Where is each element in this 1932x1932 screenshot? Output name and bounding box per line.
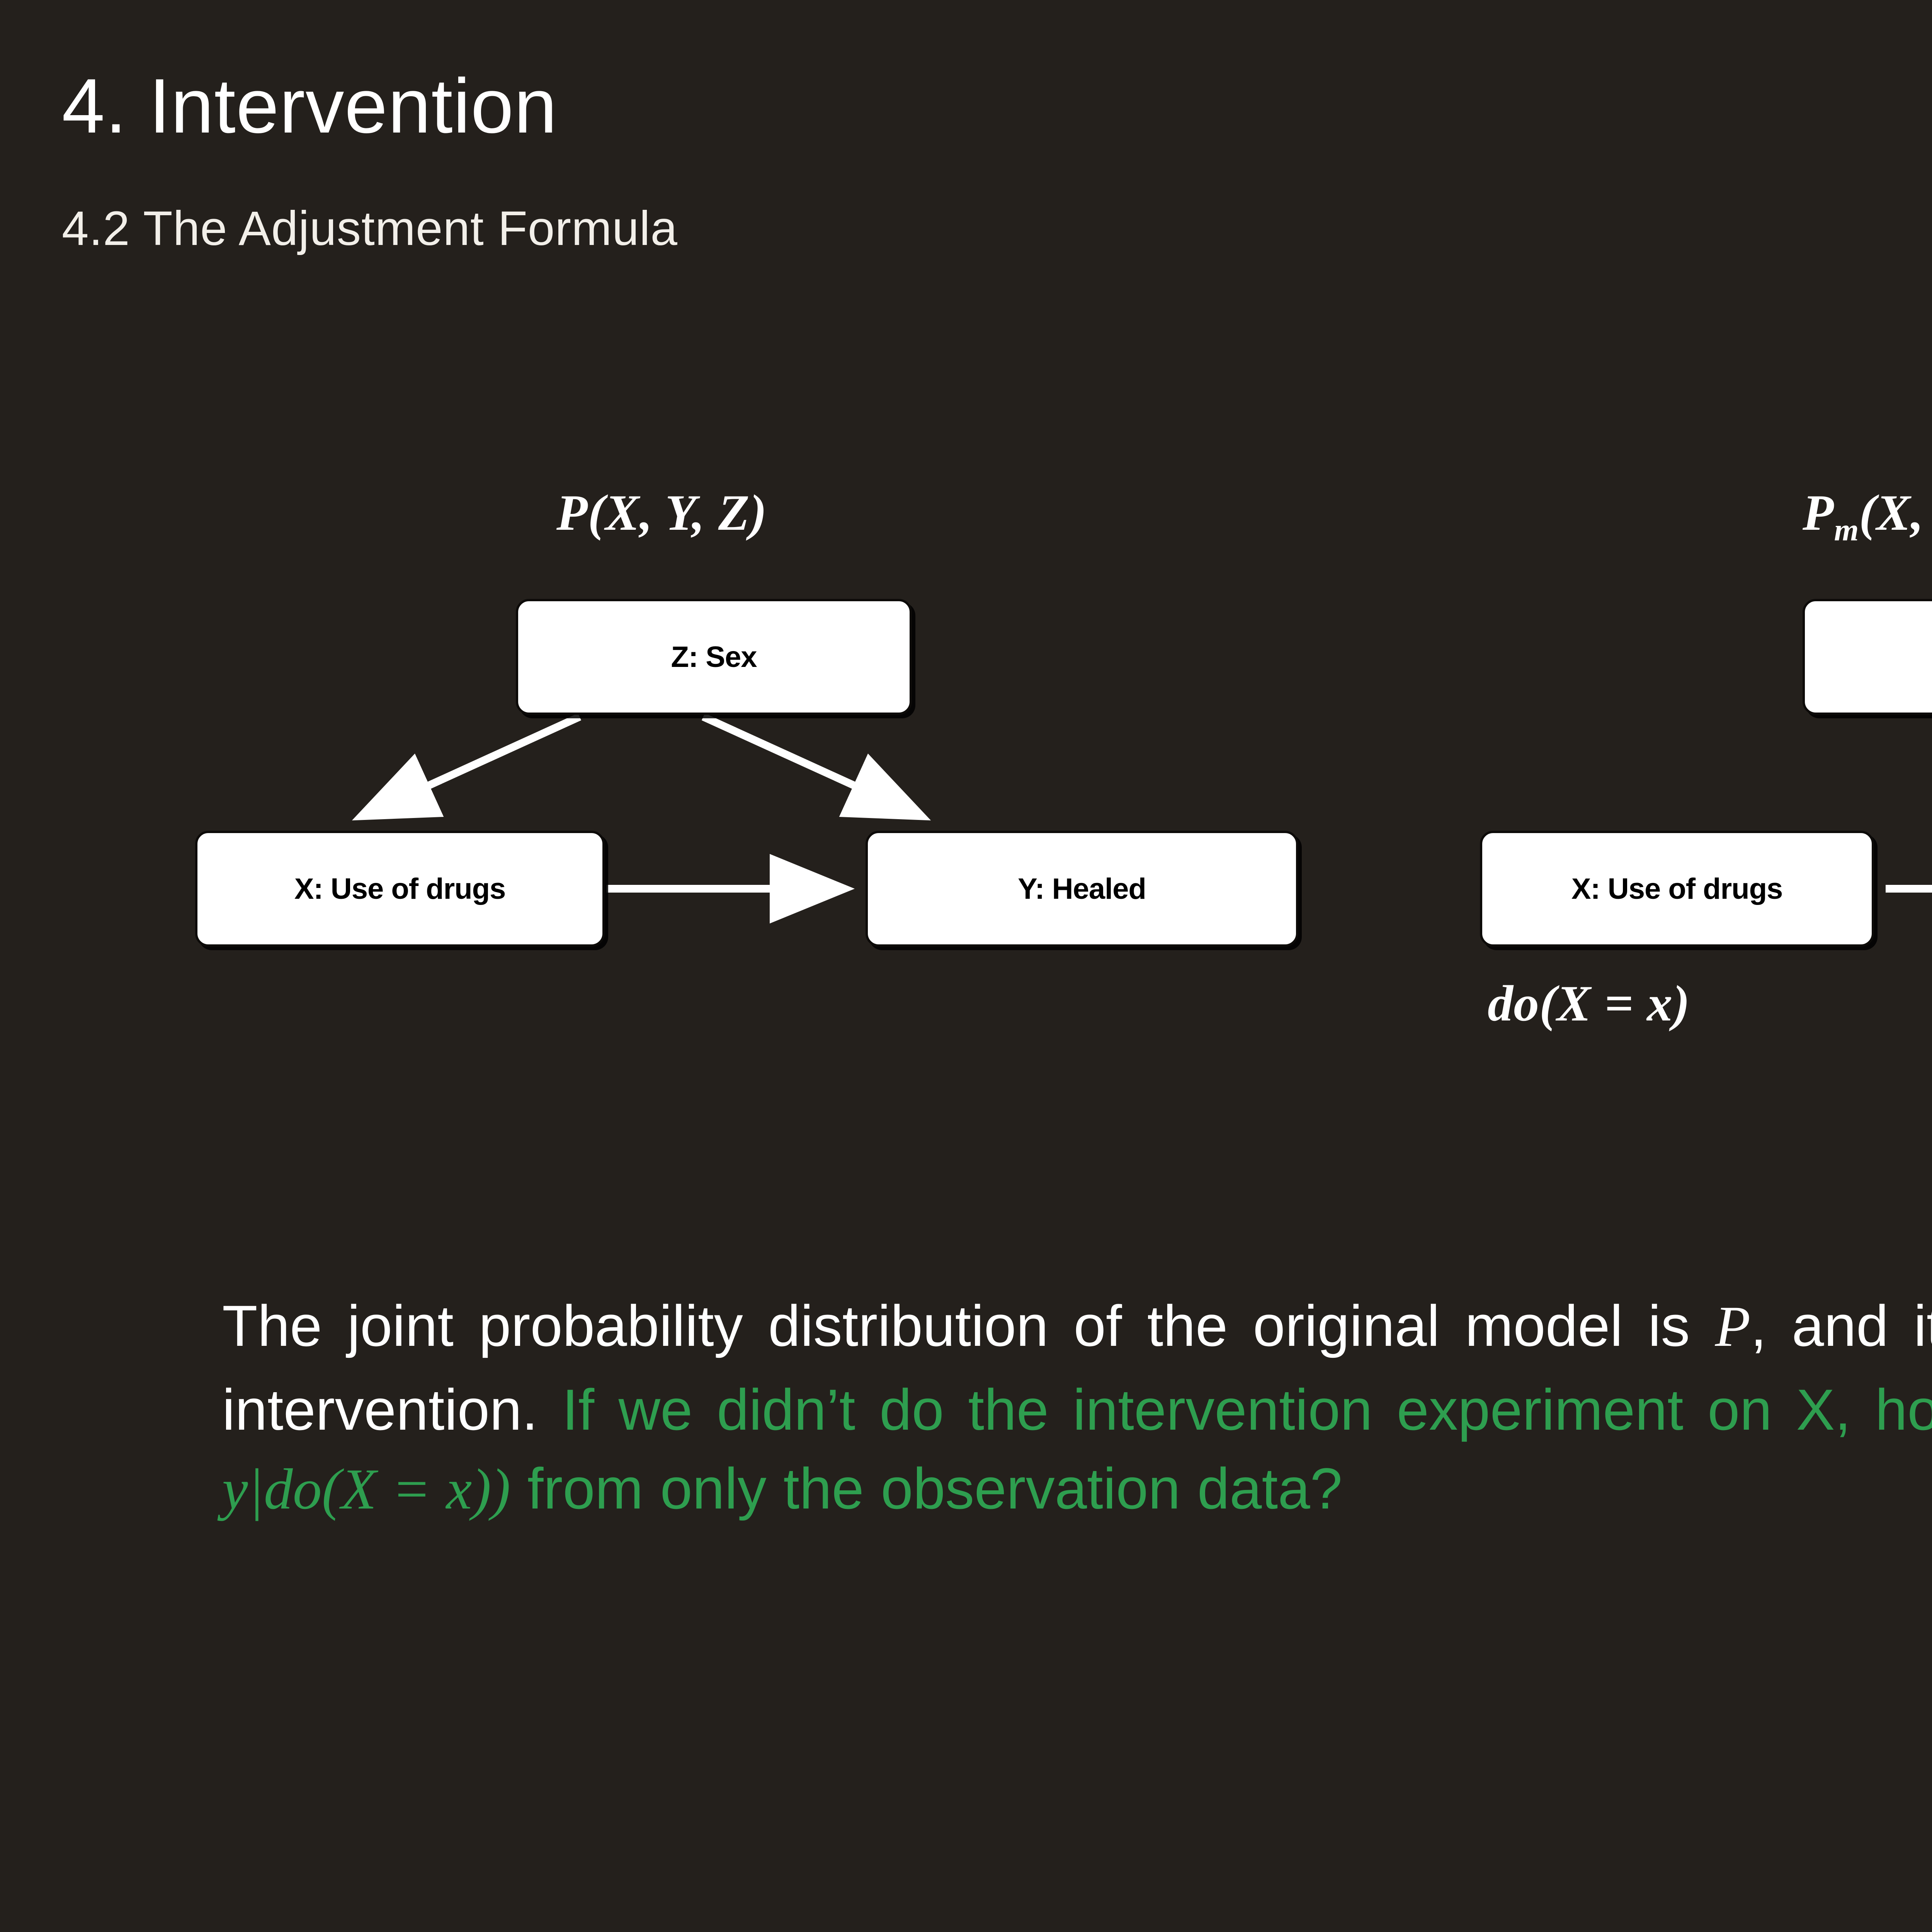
- body-seg-1: The joint probability distribution of th…: [222, 1293, 1715, 1358]
- node-z-label: Z: Sex: [671, 640, 757, 674]
- page-subtitle: 4.2 The Adjustment Formula: [62, 201, 678, 256]
- do-operator-label: do(X = x): [1488, 974, 1690, 1033]
- page-title: 4. Intervention: [62, 62, 557, 151]
- body-seg-green-1: If we didn’t do the intervention experim…: [562, 1377, 1932, 1442]
- body-seg-3: , and it changes to: [1750, 1293, 1932, 1358]
- node-z-sex[interactable]: Z: Sex: [1803, 599, 1932, 715]
- node-y-healed[interactable]: Y: Healed: [866, 831, 1298, 947]
- node-x-use-of-drugs[interactable]: X: Use of drugs: [195, 831, 605, 947]
- body-paragraph: The joint probability distribution of th…: [222, 1287, 1932, 1529]
- node-z-sex[interactable]: Z: Sex: [516, 599, 912, 715]
- causal-diagram-original: P(X, Y, Z) Z: Sex X: Use of drugs Y: Hea…: [147, 475, 1383, 978]
- node-x-label: X: Use of drugs: [294, 872, 506, 906]
- node-x-use-of-drugs[interactable]: X: Use of drugs: [1480, 831, 1874, 947]
- causal-diagram-intervened: Pm(X, Y, Z) Z: Sex X: Use of drugs Y: He…: [1430, 475, 1932, 1078]
- body-math-p: P: [1715, 1294, 1751, 1359]
- node-x-label: X: Use of drugs: [1571, 872, 1783, 906]
- node-y-label: Y: Healed: [1018, 872, 1146, 906]
- body-seg-green-2: from only the observation data?: [510, 1456, 1342, 1521]
